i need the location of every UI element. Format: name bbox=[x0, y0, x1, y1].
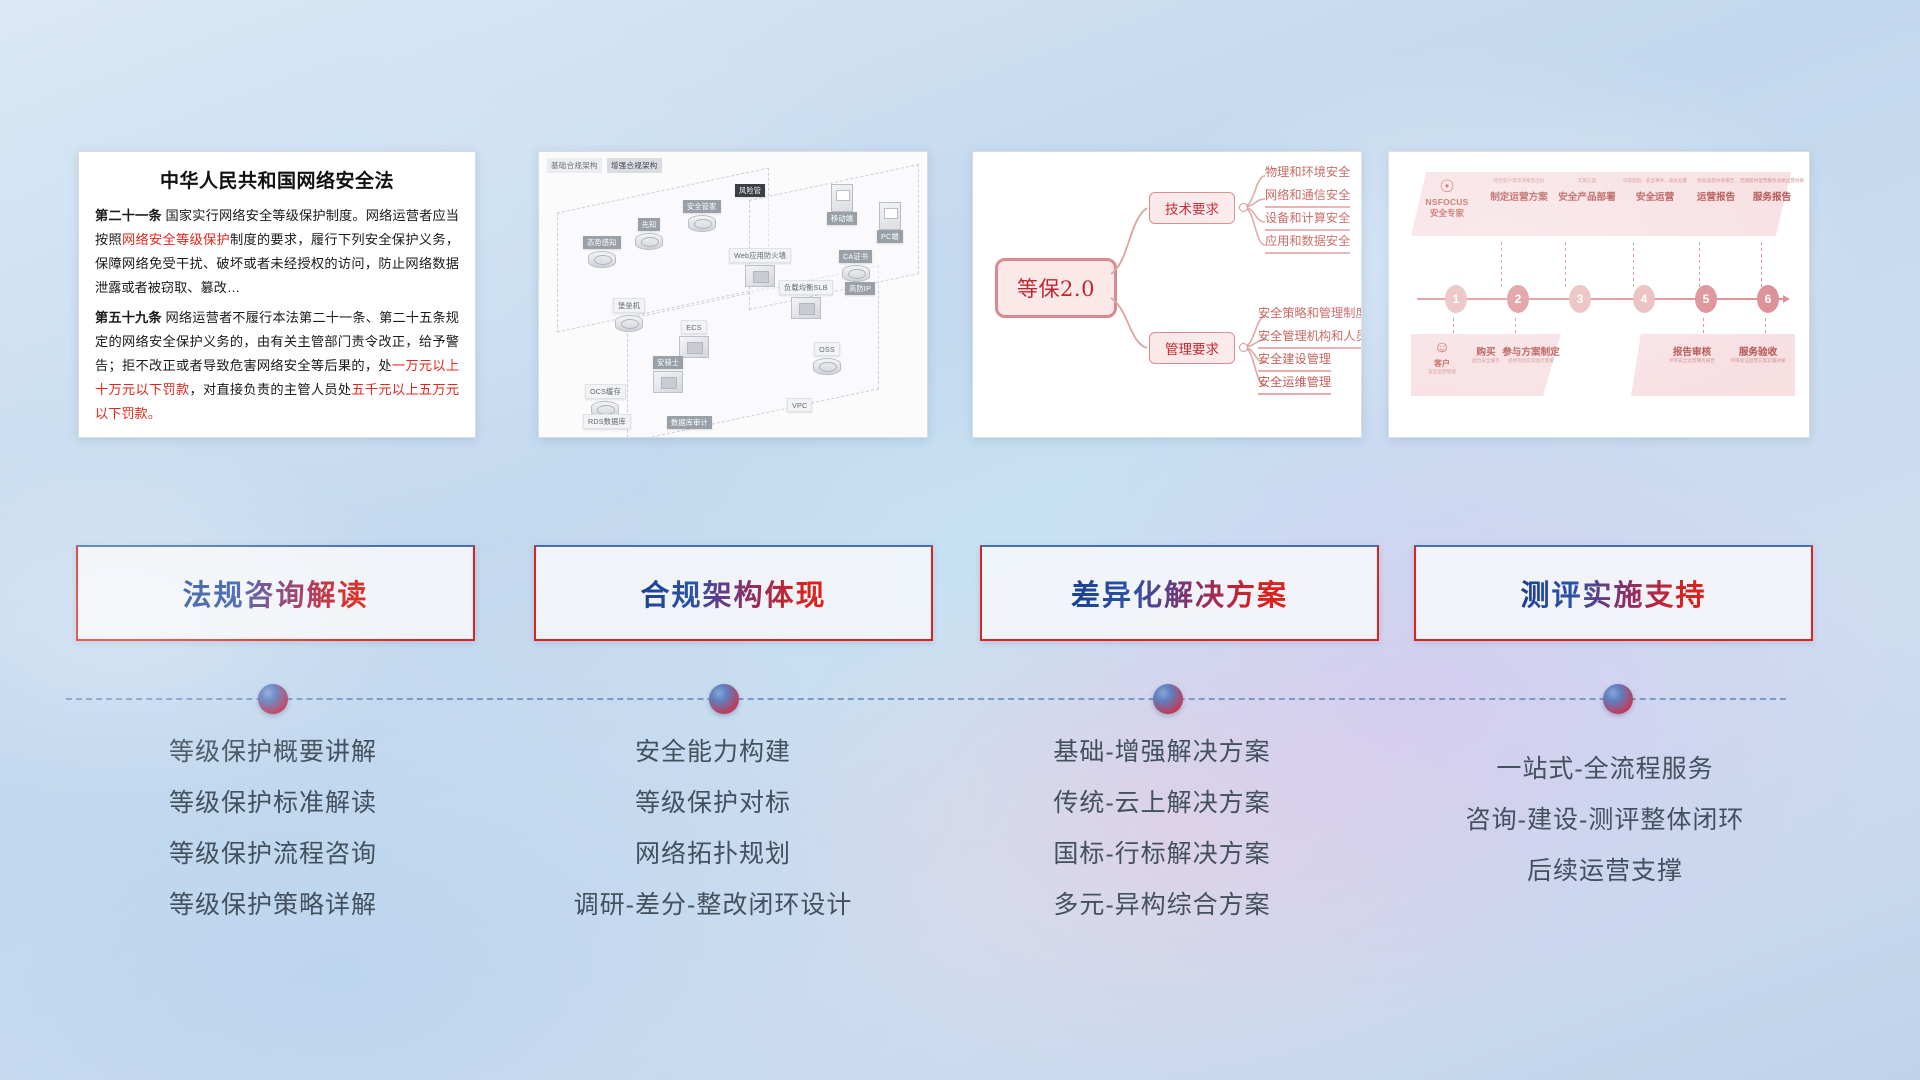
timeline-marker-3[interactable] bbox=[1153, 684, 1183, 714]
arch-node-slb: 负载均衡SLB bbox=[779, 280, 833, 319]
arch-node-ca-cert: CA证书 bbox=[839, 250, 872, 282]
mindmap-leaf-org: 安全管理机构和人员 bbox=[1258, 326, 1362, 349]
card-nsfocus-timeline[interactable]: ☉ NSFOCUS 安全专家 结合客户需求清晰后出具 制定运营方案 实施方案 安… bbox=[1388, 151, 1810, 438]
timeline-dashed-line bbox=[66, 698, 1786, 700]
timeline-axis bbox=[1417, 298, 1785, 300]
cylinder-icon bbox=[688, 215, 716, 232]
architecture-tabs: 基础合规架构 增强合规架构 bbox=[547, 158, 662, 173]
customer-step-2: 参与方案制定 提供现场实际运行需要 bbox=[1493, 344, 1569, 364]
arch-node-ocs-cache: OCS缓存 bbox=[585, 384, 626, 418]
customer-step-title: 参与方案制定 bbox=[1493, 344, 1569, 358]
expert-person-icon: ☉ bbox=[1419, 178, 1475, 195]
customer-logo: ☺ 客户 安全运营管理 bbox=[1419, 340, 1465, 375]
mindmap-branch-technical: 技术要求 bbox=[1149, 192, 1235, 224]
arch-node-label: 堡垒机 bbox=[613, 298, 645, 313]
arch-node-label: 数据库审计 bbox=[667, 416, 712, 429]
article-59-mid: ，对直接负责的主管人员处 bbox=[189, 382, 351, 397]
detail-item: 多元-异构综合方案 bbox=[962, 893, 1362, 918]
arch-node-label: 风险管 bbox=[735, 184, 765, 197]
timeline-tick bbox=[1565, 242, 1566, 288]
detail-item: 等级保护流程咨询 bbox=[73, 842, 473, 867]
slide-canvas: 中华人民共和国网络安全法 第二十一条 国家实行网络安全等级保护制度。网络运营者应… bbox=[0, 0, 1920, 1080]
arch-node-mobile: 移动端 bbox=[827, 182, 857, 225]
logo-line-2: 安全专家 bbox=[1419, 207, 1475, 219]
heading-box-regulation-consulting[interactable]: 法规咨询解读 bbox=[76, 545, 475, 641]
arch-node-pc: PC端 bbox=[877, 200, 903, 243]
arch-node-anqishi: 安骑士 bbox=[653, 356, 683, 393]
article-21-label: 第二十一条 bbox=[95, 208, 162, 223]
customer-step-4: 服务验收 评审验证运营方案实施效果 bbox=[1727, 344, 1789, 364]
mindmap-leaf-policy: 安全策略和管理制度 bbox=[1258, 303, 1362, 324]
arch-node-label: VPC bbox=[787, 398, 812, 412]
article-59-label: 第五十九条 bbox=[95, 310, 162, 325]
expert-step-sub: 结合客户需求清晰后出具 bbox=[1481, 178, 1557, 184]
architecture-diagram: 基础合规架构 增强合规架构 风险管 安全管家 先知 态 bbox=[539, 152, 927, 437]
arch-node-xianzhi: 先知 bbox=[635, 218, 663, 250]
cube-icon bbox=[653, 371, 683, 393]
card-dengbao-mindmap[interactable]: 等保2.0 技术要求 管理要求 物理和环境安全 bbox=[972, 151, 1362, 438]
detail-item: 后续运营支撑 bbox=[1405, 859, 1805, 884]
mindmap-branch-management: 管理要求 bbox=[1149, 332, 1235, 364]
expert-step-5: 定期提供运营服务总体运营效果 服务报告 bbox=[1739, 178, 1805, 203]
heading-label: 法规咨询解读 bbox=[182, 572, 368, 614]
heading-label: 测评实施支持 bbox=[1520, 572, 1706, 614]
arch-node-high-defense-ip: 高防IP bbox=[845, 282, 875, 295]
card-cybersecurity-law[interactable]: 中华人民共和国网络安全法 第二十一条 国家实行网络安全等级保护制度。网络运营者应… bbox=[78, 151, 476, 438]
mindmap-leaf-construction: 安全建设管理 bbox=[1258, 349, 1331, 372]
cylinder-icon bbox=[615, 315, 643, 332]
cube-icon bbox=[679, 336, 709, 358]
arch-tab-basic[interactable]: 基础合规架构 bbox=[547, 158, 602, 173]
timeline-marker-2[interactable] bbox=[709, 684, 739, 714]
arch-node-label: 安骑士 bbox=[653, 356, 683, 369]
mindmap-leaf-device: 设备和计算安全 bbox=[1265, 208, 1350, 231]
arch-node-label: 先知 bbox=[638, 218, 661, 231]
arch-node-db-audit: 数据库审计 bbox=[667, 416, 712, 429]
detail-item: 调研-差分-整改闭环设计 bbox=[513, 893, 913, 918]
detail-item: 等级保护策略详解 bbox=[73, 893, 473, 918]
expert-step-2: 实施方案 安全产品部署 bbox=[1549, 178, 1625, 203]
arch-node-ecs: ECS bbox=[679, 320, 709, 358]
mindmap-leaf-network: 网络和通信安全 bbox=[1265, 185, 1350, 208]
heading-box-compliance-architecture[interactable]: 合规架构体现 bbox=[534, 545, 933, 641]
arch-node-label: RDS数据库 bbox=[583, 414, 631, 429]
customer-step-sub: 评审验证运营方案实施效果 bbox=[1727, 358, 1789, 364]
arch-node-vpc: VPC bbox=[787, 398, 812, 412]
customer-step-title: 报告审核 bbox=[1661, 344, 1723, 358]
mindmap-leaf-physical: 物理和环境安全 bbox=[1265, 162, 1350, 183]
customer-step-sub: 评审安全运营服务报告 bbox=[1661, 358, 1723, 364]
arch-node-label: OCS缓存 bbox=[585, 384, 626, 399]
expert-step-title: 服务报告 bbox=[1739, 189, 1805, 203]
logo-line-1: NSFOCUS bbox=[1419, 197, 1475, 207]
timeline-tick bbox=[1699, 242, 1700, 288]
cylinder-icon bbox=[635, 233, 663, 250]
detail-item: 等级保护概要讲解 bbox=[73, 740, 473, 765]
timeline-number-6: 6 bbox=[1757, 285, 1779, 313]
detail-column-2: 安全能力构建 等级保护对标 网络拓扑规划 调研-差分-整改闭环设计 bbox=[513, 740, 913, 944]
arch-node-oss: OSS bbox=[813, 342, 841, 375]
arch-node-label: CA证书 bbox=[839, 250, 872, 263]
timeline-tick bbox=[1633, 242, 1634, 288]
arch-node-label: ECS bbox=[681, 320, 706, 334]
cube-icon bbox=[745, 265, 775, 287]
arch-node-bastion: 堡垒机 bbox=[613, 298, 645, 332]
card-compliance-architecture[interactable]: 基础合规架构 增强合规架构 风险管 安全管家 先知 态 bbox=[538, 151, 928, 438]
timeline-marker-1[interactable] bbox=[258, 684, 288, 714]
arch-node-label: PC端 bbox=[877, 230, 903, 243]
law-article-21: 第二十一条 国家实行网络安全等级保护制度。网络运营者应当按照网络安全等级保护制度… bbox=[95, 204, 459, 300]
law-title: 中华人民共和国网络安全法 bbox=[95, 166, 459, 193]
cylinder-icon bbox=[588, 251, 616, 268]
server-icon bbox=[879, 202, 901, 230]
heading-label: 差异化解决方案 bbox=[1071, 572, 1288, 614]
timeline-number-5: 5 bbox=[1695, 285, 1717, 313]
arch-node-situational-awareness: 态势感知 bbox=[583, 236, 621, 268]
nsfocus-logo: ☉ NSFOCUS 安全专家 bbox=[1419, 178, 1475, 219]
expert-step-title: 安全产品部署 bbox=[1549, 189, 1625, 203]
arch-node-security-butler: 安全管家 bbox=[683, 200, 721, 232]
article-21-highlight: 网络安全等级保护 bbox=[122, 232, 230, 247]
detail-column-4: 一站式-全流程服务 咨询-建设-测评整体闭环 后续运营支撑 bbox=[1405, 757, 1805, 910]
customer-person-icon: ☺ bbox=[1419, 340, 1465, 356]
detail-item: 等级保护对标 bbox=[513, 791, 913, 816]
nsfocus-timeline: ☉ NSFOCUS 安全专家 结合客户需求清晰后出具 制定运营方案 实施方案 安… bbox=[1389, 152, 1809, 437]
mindmap-leaf-application: 应用和数据安全 bbox=[1265, 231, 1350, 254]
mindmap-node-dot bbox=[1239, 343, 1248, 352]
detail-item: 一站式-全流程服务 bbox=[1405, 757, 1805, 782]
heading-label: 合规架构体现 bbox=[640, 572, 826, 614]
customer-step-title: 服务验收 bbox=[1727, 344, 1789, 358]
law-article-59: 第五十九条 网络运营者不履行本法第二十一条、第二十五条规定的网络安全保护义务的，… bbox=[95, 306, 459, 426]
arch-node-label: 高防IP bbox=[845, 282, 875, 295]
law-text-block: 中华人民共和国网络安全法 第二十一条 国家实行网络安全等级保护制度。网络运营者应… bbox=[79, 152, 475, 438]
expert-step-1: 结合客户需求清晰后出具 制定运营方案 bbox=[1481, 178, 1557, 203]
arch-node-label: 态势感知 bbox=[583, 236, 621, 249]
arch-node-label: 负载均衡SLB bbox=[779, 280, 833, 295]
detail-item: 国标-行标解决方案 bbox=[962, 842, 1362, 867]
mindmap-leaf-ops: 安全运维管理 bbox=[1258, 372, 1331, 395]
server-icon bbox=[831, 184, 853, 212]
timeline-number-3: 3 bbox=[1569, 285, 1591, 313]
arch-node-risk: 风险管 bbox=[735, 184, 765, 197]
heading-box-assessment-support[interactable]: 测评实施支持 bbox=[1414, 545, 1813, 641]
timeline-tick bbox=[1761, 242, 1762, 288]
expert-step-title: 制定运营方案 bbox=[1481, 189, 1557, 203]
cube-icon bbox=[791, 297, 821, 319]
arch-node-rds: RDS数据库 bbox=[583, 414, 631, 429]
heading-row: 法规咨询解读 合规架构体现 差异化解决方案 测评实施支持 bbox=[0, 545, 1920, 645]
customer-step-3: 报告审核 评审安全运营服务报告 bbox=[1661, 344, 1723, 364]
customer-sub: 安全运营管理 bbox=[1419, 369, 1465, 375]
arch-node-label: 安全管家 bbox=[683, 200, 721, 213]
detail-column-1: 等级保护概要讲解 等级保护标准解读 等级保护流程咨询 等级保护策略详解 bbox=[73, 740, 473, 944]
cylinder-icon bbox=[813, 358, 841, 375]
detail-item: 网络拓扑规划 bbox=[513, 842, 913, 867]
detail-item: 安全能力构建 bbox=[513, 740, 913, 765]
heading-box-differentiated-solution[interactable]: 差异化解决方案 bbox=[980, 545, 1379, 641]
expert-step-sub: 定期提供运营服务总体运营效果 bbox=[1739, 178, 1805, 184]
expert-step-sub: 实施方案 bbox=[1549, 178, 1625, 184]
image-card-row: 中华人民共和国网络安全法 第二十一条 国家实行网络安全等级保护制度。网络运营者应… bbox=[0, 151, 1920, 441]
detail-item: 等级保护标准解读 bbox=[73, 791, 473, 816]
arch-tab-enhanced[interactable]: 增强合规架构 bbox=[607, 158, 662, 173]
detail-item: 传统-云上解决方案 bbox=[962, 791, 1362, 816]
mindmap: 等保2.0 技术要求 管理要求 物理和环境安全 bbox=[973, 152, 1361, 437]
timeline-number-4: 4 bbox=[1633, 285, 1655, 313]
arch-node-label: 移动端 bbox=[827, 212, 857, 225]
arch-node-label: OSS bbox=[814, 342, 840, 356]
timeline-number-2: 2 bbox=[1507, 285, 1529, 313]
detail-column-3: 基础-增强解决方案 传统-云上解决方案 国标-行标解决方案 多元-异构综合方案 bbox=[962, 740, 1362, 944]
customer-label: 客户 bbox=[1419, 358, 1465, 369]
detail-item: 基础-增强解决方案 bbox=[962, 740, 1362, 765]
customer-step-sub: 提供现场实际运行需要 bbox=[1493, 358, 1569, 364]
arch-node-label: Web应用防火墙 bbox=[729, 248, 791, 263]
cylinder-icon bbox=[842, 265, 870, 282]
mindmap-node-dot bbox=[1239, 203, 1248, 212]
timeline-marker-4[interactable] bbox=[1603, 684, 1633, 714]
timeline-number-1: 1 bbox=[1445, 285, 1467, 313]
timeline-tick bbox=[1501, 242, 1502, 288]
detail-item: 咨询-建设-测评整体闭环 bbox=[1405, 808, 1805, 833]
